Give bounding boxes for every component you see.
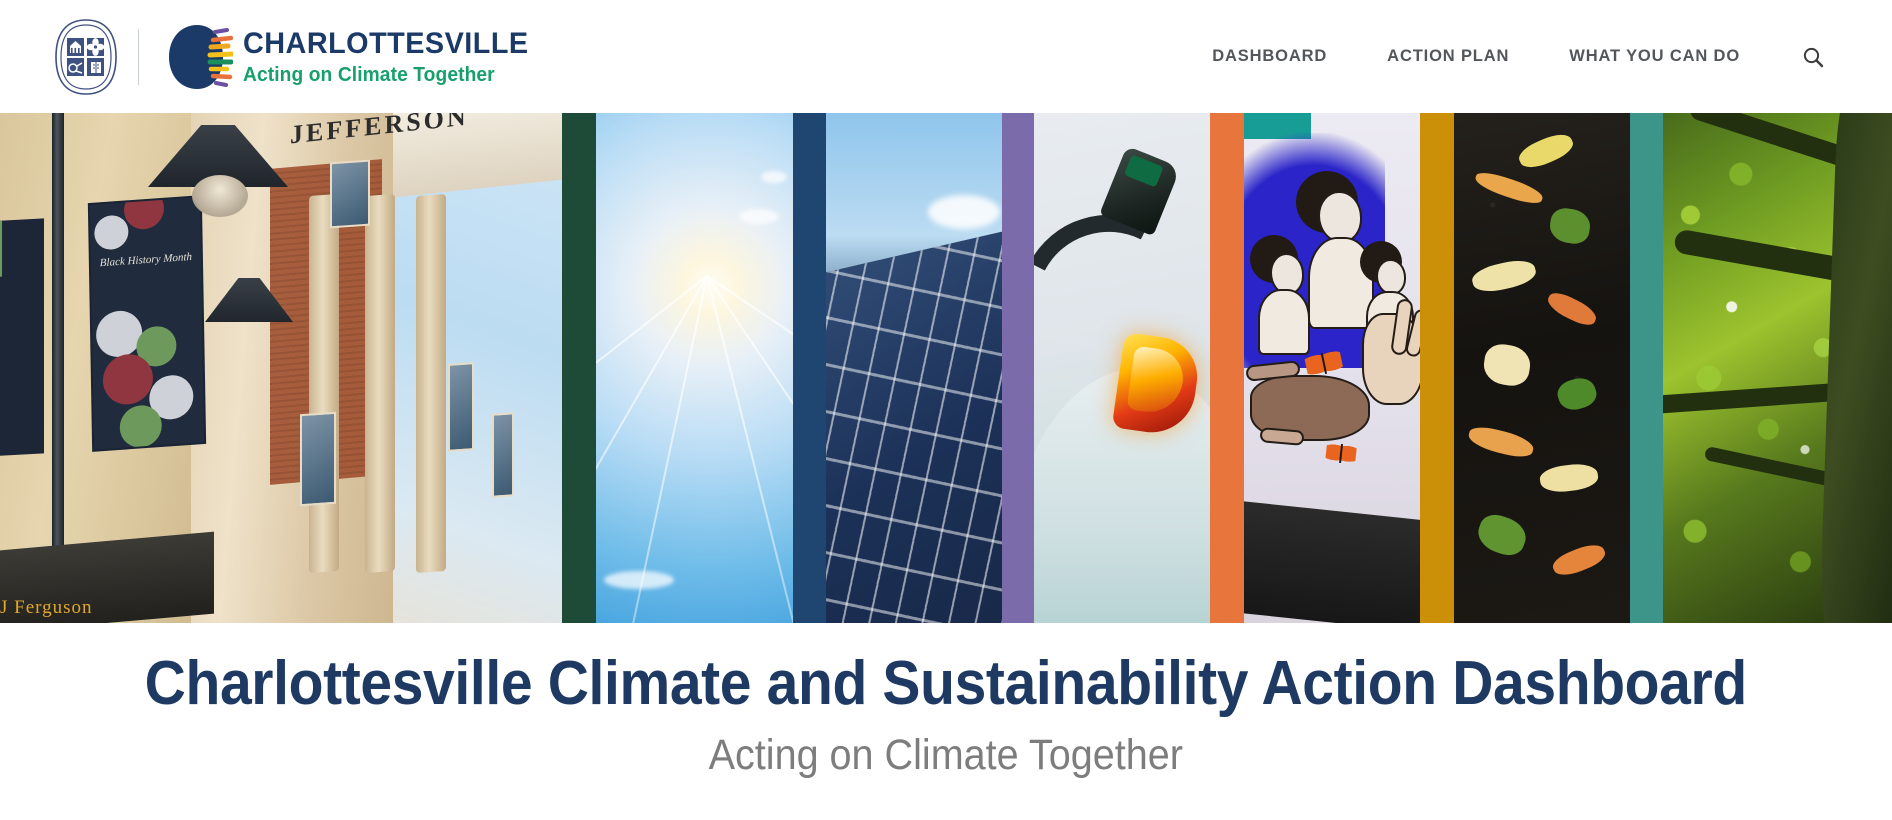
logo-title: CHARLOTTESVILLE (243, 29, 529, 59)
divider-green (562, 113, 596, 623)
brand-lockup[interactable]: CHARLOTTESVILLE Acting on Climate Togeth… (52, 17, 541, 97)
logo-wordmark: CHARLOTTESVILLE Acting on Climate Togeth… (243, 29, 541, 85)
page-title: Charlottesville Climate and Sustainabili… (145, 651, 1747, 718)
logo-tagline: Acting on Climate Together (243, 65, 529, 85)
hero-panel-sun-sky (596, 113, 793, 623)
divider-navy (793, 113, 826, 623)
city-seal-icon (52, 17, 120, 97)
nav-action-plan[interactable]: ACTION PLAN (1357, 37, 1539, 76)
hero-panel-compost (1454, 113, 1630, 623)
search-button[interactable] (1796, 40, 1830, 74)
site-header: CHARLOTTESVILLE Acting on Climate Togeth… (0, 0, 1892, 113)
divider-purple (1002, 113, 1034, 623)
hero-panel-downtown-street: JEFFERSON Black History Month J Ferguson (0, 113, 562, 623)
search-icon (1801, 45, 1825, 69)
page-subtitle: Acting on Climate Together (709, 732, 1183, 779)
nav-dashboard[interactable]: DASHBOARD (1182, 37, 1357, 76)
hero-panel-community-mural (1244, 113, 1420, 623)
divider-teal (1630, 113, 1663, 623)
hero-panel-solar-panels (826, 113, 1002, 623)
divider-gold (1420, 113, 1454, 623)
divider-orange (1210, 113, 1244, 623)
hero-panel-tree-canopy (1663, 113, 1892, 623)
banner-text: Black History Month (91, 249, 201, 273)
street-banner-black-history-month: Black History Month (90, 197, 204, 449)
climate-circle-rays-icon (161, 21, 233, 93)
street-banner-secondary (0, 218, 44, 458)
hero-banner: JEFFERSON Black History Month J Ferguson (0, 113, 1892, 623)
page-title-block: Charlottesville Climate and Sustainabili… (0, 623, 1892, 820)
main-navigation: DASHBOARD ACTION PLAN WHAT YOU CAN DO (1182, 37, 1830, 76)
brand-divider (138, 29, 139, 85)
nav-what-you-can-do[interactable]: WHAT YOU CAN DO (1539, 37, 1770, 76)
hero-panel-ev-charging (1034, 113, 1210, 623)
shop-sign-text: J Ferguson (0, 597, 93, 619)
